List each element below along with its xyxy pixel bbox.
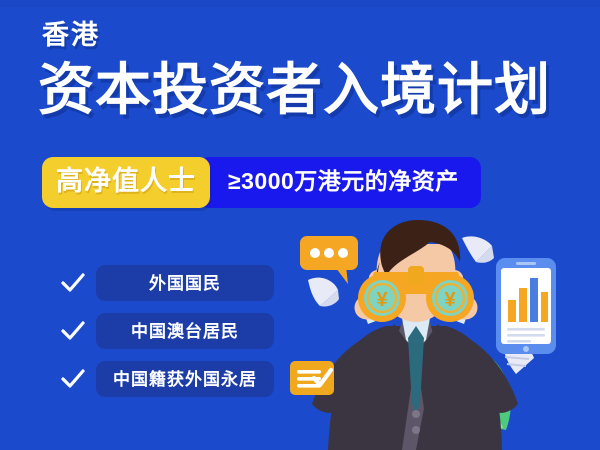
eligibility-chip-label: 中国澳台居民: [131, 323, 239, 340]
illustration: ¥ ¥: [290, 218, 600, 450]
paper-icon: [308, 278, 339, 307]
checklist-card-icon: [290, 361, 334, 395]
eligibility-chip: 中国澳台居民: [96, 313, 274, 349]
list-item: 中国澳台居民: [58, 313, 274, 349]
chart-bar: [508, 300, 516, 322]
suit-button: [412, 410, 420, 418]
eligibility-chip: 外国国民: [96, 265, 274, 301]
yen-symbol: ¥: [376, 289, 388, 311]
badge-row: 高净值人士 ≥3000万港元的净资产: [42, 157, 481, 208]
highnetworth-badge: 高净值人士: [42, 157, 210, 208]
poster-canvas: 香港 资本投资者入境计划 高净值人士 ≥3000万港元的净资产 外国国民 中国澳…: [0, 0, 600, 450]
smartphone-chart-icon: [496, 258, 556, 354]
check-icon: [58, 364, 88, 394]
check-icon: [58, 316, 88, 346]
chart-bar: [541, 292, 548, 322]
list-item: 中国籍获外国永居: [58, 361, 274, 397]
chart-bar: [519, 288, 527, 322]
highnetworth-badge-label: 高净值人士: [56, 168, 196, 195]
suit-button: [412, 426, 420, 434]
speech-bubble-icon: [300, 236, 358, 284]
check-icon: [58, 268, 88, 298]
yen-symbol: ¥: [444, 289, 456, 311]
eligibility-chip-label: 外国国民: [149, 275, 221, 292]
eligibility-chip: 中国籍获外国永居: [96, 361, 274, 397]
illustration-svg: ¥ ¥: [290, 218, 600, 450]
threshold-badge-label: ≥3000万港元的净资产: [228, 170, 459, 193]
eligibility-chip-label: 中国籍获外国永居: [113, 371, 257, 388]
top-accent-band: [0, 0, 600, 7]
threshold-badge: ≥3000万港元的净资产: [198, 157, 481, 208]
list-item: 外国国民: [58, 265, 274, 301]
kicker-text: 香港: [42, 22, 100, 49]
paper-icon: [462, 236, 494, 262]
page-title: 资本投资者入境计划: [38, 62, 551, 118]
chart-bar: [530, 278, 538, 322]
eligibility-checklist: 外国国民 中国澳台居民 中国籍获外国永居: [58, 265, 274, 397]
